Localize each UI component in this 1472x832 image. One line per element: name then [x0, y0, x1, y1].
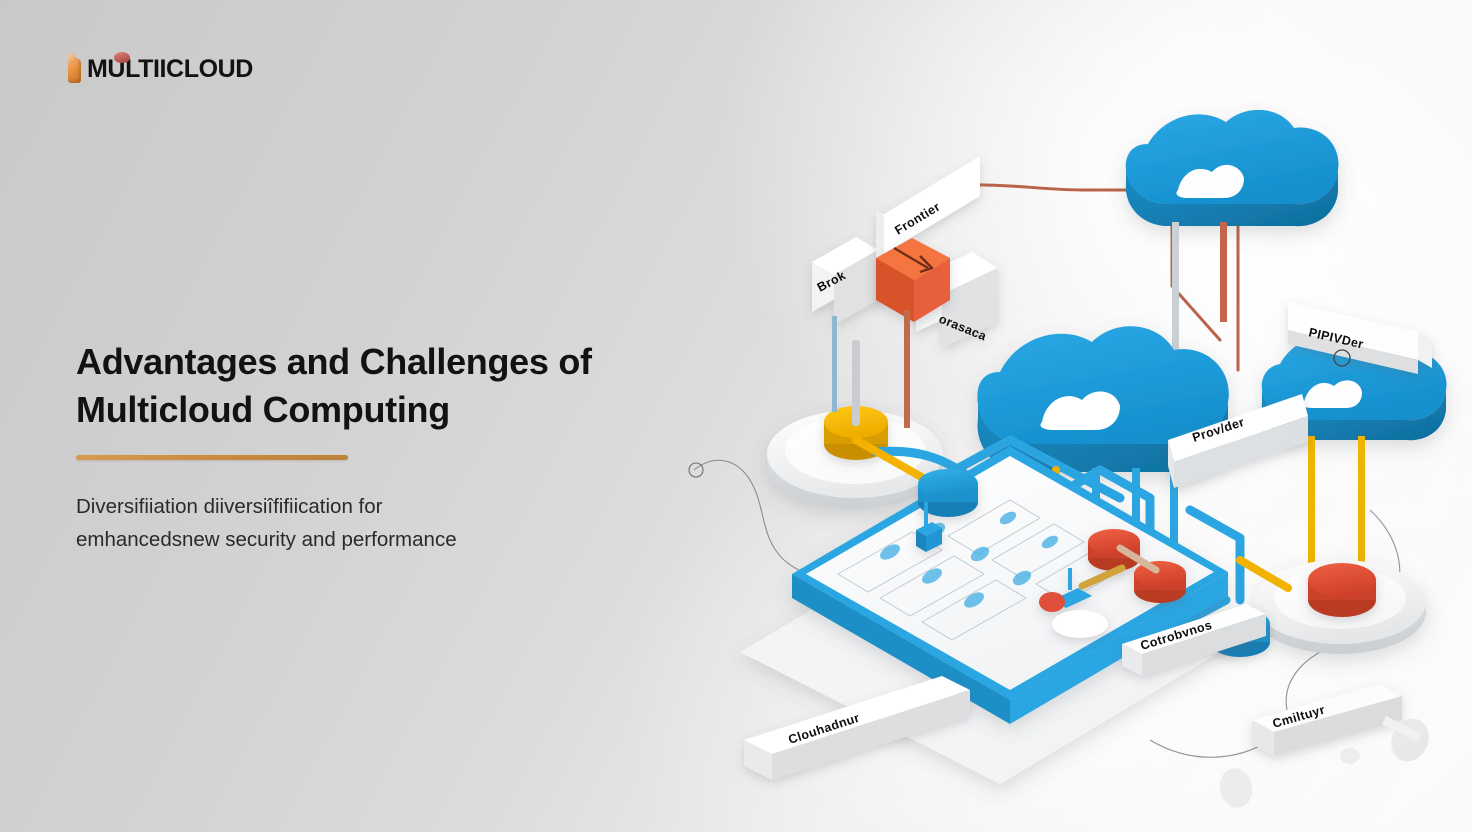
node-red-disc-right: [1308, 563, 1376, 617]
logo-accent-dot-icon: [114, 52, 130, 63]
post-cloud-tr-red: [1220, 222, 1227, 322]
page-subtitle-line-2: emhancedsnew security and performance: [76, 528, 457, 551]
post-cube: [904, 310, 910, 428]
slide-canvas: MULTIICLOUD Advantages and Challenges of…: [0, 0, 1472, 832]
headline-block: Advantages and Challenges of Multicloud …: [76, 338, 716, 556]
card-cmiltuyr: Cmiltuyr: [1252, 684, 1402, 756]
page-title-line-2: Multicloud Computing: [76, 389, 450, 430]
post-left-gray: [852, 340, 860, 426]
page-title: Advantages and Challenges of Multicloud …: [76, 338, 716, 433]
cloud-top-right: [1126, 110, 1339, 226]
isometric-multicloud-network-illustration: Brok orasaca Frontier: [680, 40, 1472, 830]
connector-endpoint-left: [689, 463, 703, 477]
title-accent-rule: [76, 455, 348, 460]
node-red-puck-upper: [1088, 529, 1140, 571]
node-red-puck-lower: [1134, 561, 1186, 603]
page-title-line-1: Advantages and Challenges of: [76, 341, 592, 382]
multicloud-flame-mark-icon: [66, 54, 84, 84]
page-subtitle-line-1: Diversifiiation diiversiîfifiication for: [76, 495, 382, 518]
post-cloud-tr-gray: [1172, 222, 1179, 352]
card-brok: Brok: [812, 237, 878, 325]
brand-logo[interactable]: MULTIICLOUD: [66, 54, 253, 84]
page-subtitle: Diversifiiation diiversiîfifiication for…: [76, 490, 596, 556]
post-brok: [832, 316, 837, 412]
brand-logo-text: MULTIICLOUD: [87, 57, 253, 82]
